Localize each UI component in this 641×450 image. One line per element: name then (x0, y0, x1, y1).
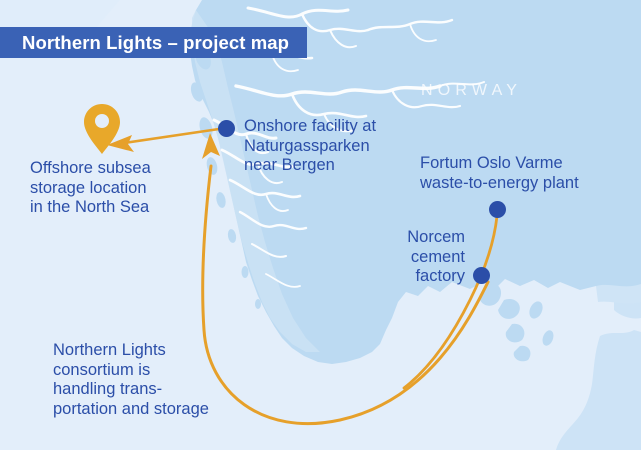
label-offshore-storage: Offshore subsea storage location in the … (30, 159, 220, 218)
country-label-norway: NORWAY (421, 82, 522, 100)
project-map: Northern Lights – project map NORWAY Off… (0, 0, 641, 450)
label-norcem-factory: Norcem cement factory (365, 228, 465, 287)
label-onshore-facility: Onshore facility at Naturgassparken near… (244, 117, 409, 176)
page-title: Northern Lights – project map (0, 27, 307, 58)
label-fortum-plant: Fortum Oslo Varme waste-to-energy plant (420, 154, 620, 193)
marker-dot-onshore-facility[interactable] (218, 120, 235, 137)
marker-dot-norcem-factory[interactable] (473, 267, 490, 284)
route-onshore-to-offshore (124, 129, 219, 143)
label-consortium-note: Northern Lights consortium is handling t… (53, 341, 253, 419)
marker-dot-fortum-plant[interactable] (489, 201, 506, 218)
arrowhead-to-onshore (202, 133, 220, 159)
